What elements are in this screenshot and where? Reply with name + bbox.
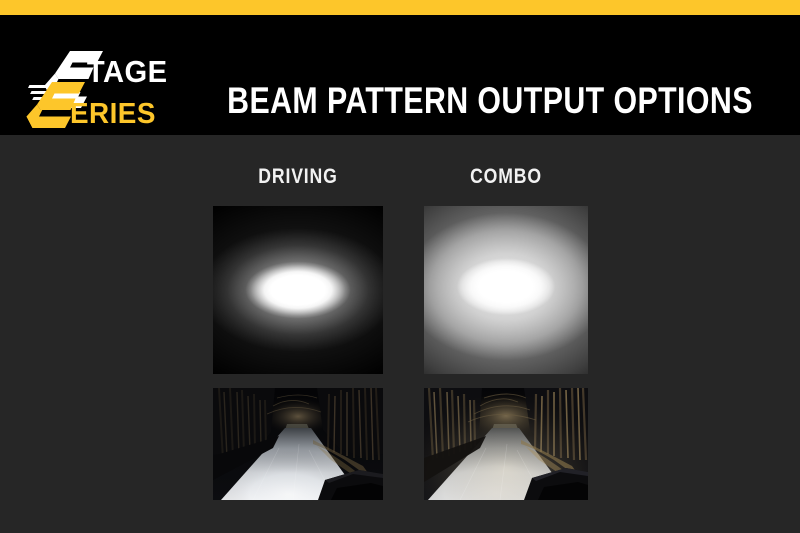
logo-series-text: ERIES	[70, 97, 156, 129]
driving-beam-glow	[213, 206, 383, 374]
page-title: BEAM PATTERN OUTPUT OPTIONS	[252, 79, 728, 123]
driving-beam-pattern-tile	[213, 206, 383, 374]
stage-series-logo-mark: TAGE ERIES	[22, 47, 187, 129]
logo-stage-text: TAGE	[87, 55, 168, 89]
stage-series-logo: TAGE ERIES	[22, 47, 187, 129]
driving-road-photo-tile	[213, 388, 383, 500]
driving-road-photo-image	[213, 388, 383, 500]
combo-road-photo-tile	[424, 388, 588, 500]
column-label-driving: DRIVING	[227, 165, 370, 189]
combo-road-photo-image	[424, 388, 588, 500]
content-area	[0, 135, 800, 533]
top-accent-bar	[0, 0, 800, 15]
header-band: TAGE ERIES BEAM PATTERN OUTPUT OPTIONS	[0, 15, 800, 135]
column-label-combo: COMBO	[437, 165, 575, 189]
combo-beam-glow	[424, 206, 588, 374]
combo-beam-pattern-tile	[424, 206, 588, 374]
beam-pattern-graphic: TAGE ERIES BEAM PATTERN OUTPUT OPTIONS	[0, 0, 800, 533]
